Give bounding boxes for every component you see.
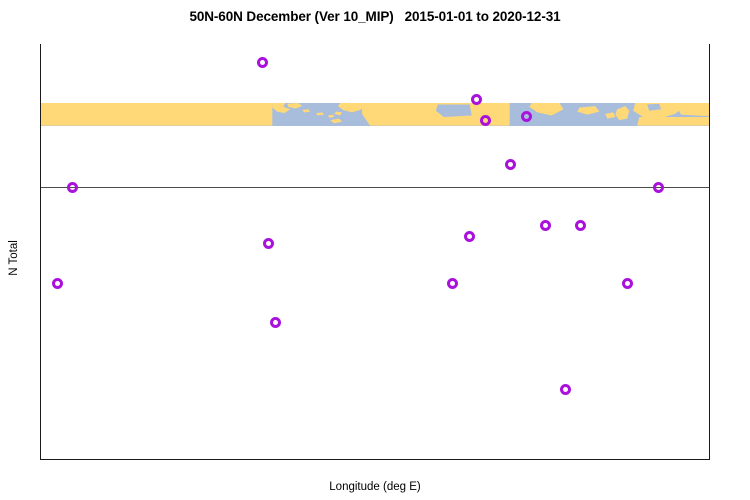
data-point-marker — [257, 57, 268, 68]
y-tick-mark — [40, 311, 41, 312]
data-point-marker — [653, 182, 664, 193]
data-point-marker — [575, 220, 586, 231]
data-point-marker — [464, 231, 475, 242]
data-point-marker — [447, 278, 458, 289]
y-axis-title: N Total — [8, 168, 20, 348]
x-tick-mark — [577, 459, 578, 460]
data-point-marker — [52, 278, 63, 289]
data-point-marker — [263, 238, 274, 249]
y-tick-mark — [40, 79, 41, 80]
data-point-marker — [67, 182, 78, 193]
data-point-marker — [560, 384, 571, 395]
y-tick-mark — [40, 133, 41, 134]
reference-line — [41, 187, 709, 188]
chart-figure: 50N-60N December (Ver 10_MIP) 2015-01-01… — [0, 0, 750, 500]
y-tick-mark — [40, 381, 41, 382]
x-axis-title: Longitude (deg E) — [0, 481, 750, 493]
land-mask-svg — [41, 103, 709, 126]
chart-title: 50N-60N December (Ver 10_MIP) 2015-01-01… — [0, 9, 750, 24]
data-point-marker — [622, 278, 633, 289]
y-tick-mark — [40, 203, 41, 204]
data-point-marker — [540, 220, 551, 231]
data-point-marker — [471, 94, 482, 105]
x-tick-mark — [443, 459, 444, 460]
data-point-marker — [505, 159, 516, 170]
y-tick-mark — [40, 257, 41, 258]
land-shapes — [41, 103, 709, 126]
x-tick-mark — [309, 459, 310, 460]
world-map-band — [41, 103, 709, 126]
x-tick-mark — [175, 459, 176, 460]
y-tick-mark — [40, 435, 41, 436]
data-point-marker — [270, 317, 281, 328]
plot-area: 1020501002005001000 90 E18090 W090 E180 … — [40, 44, 710, 460]
